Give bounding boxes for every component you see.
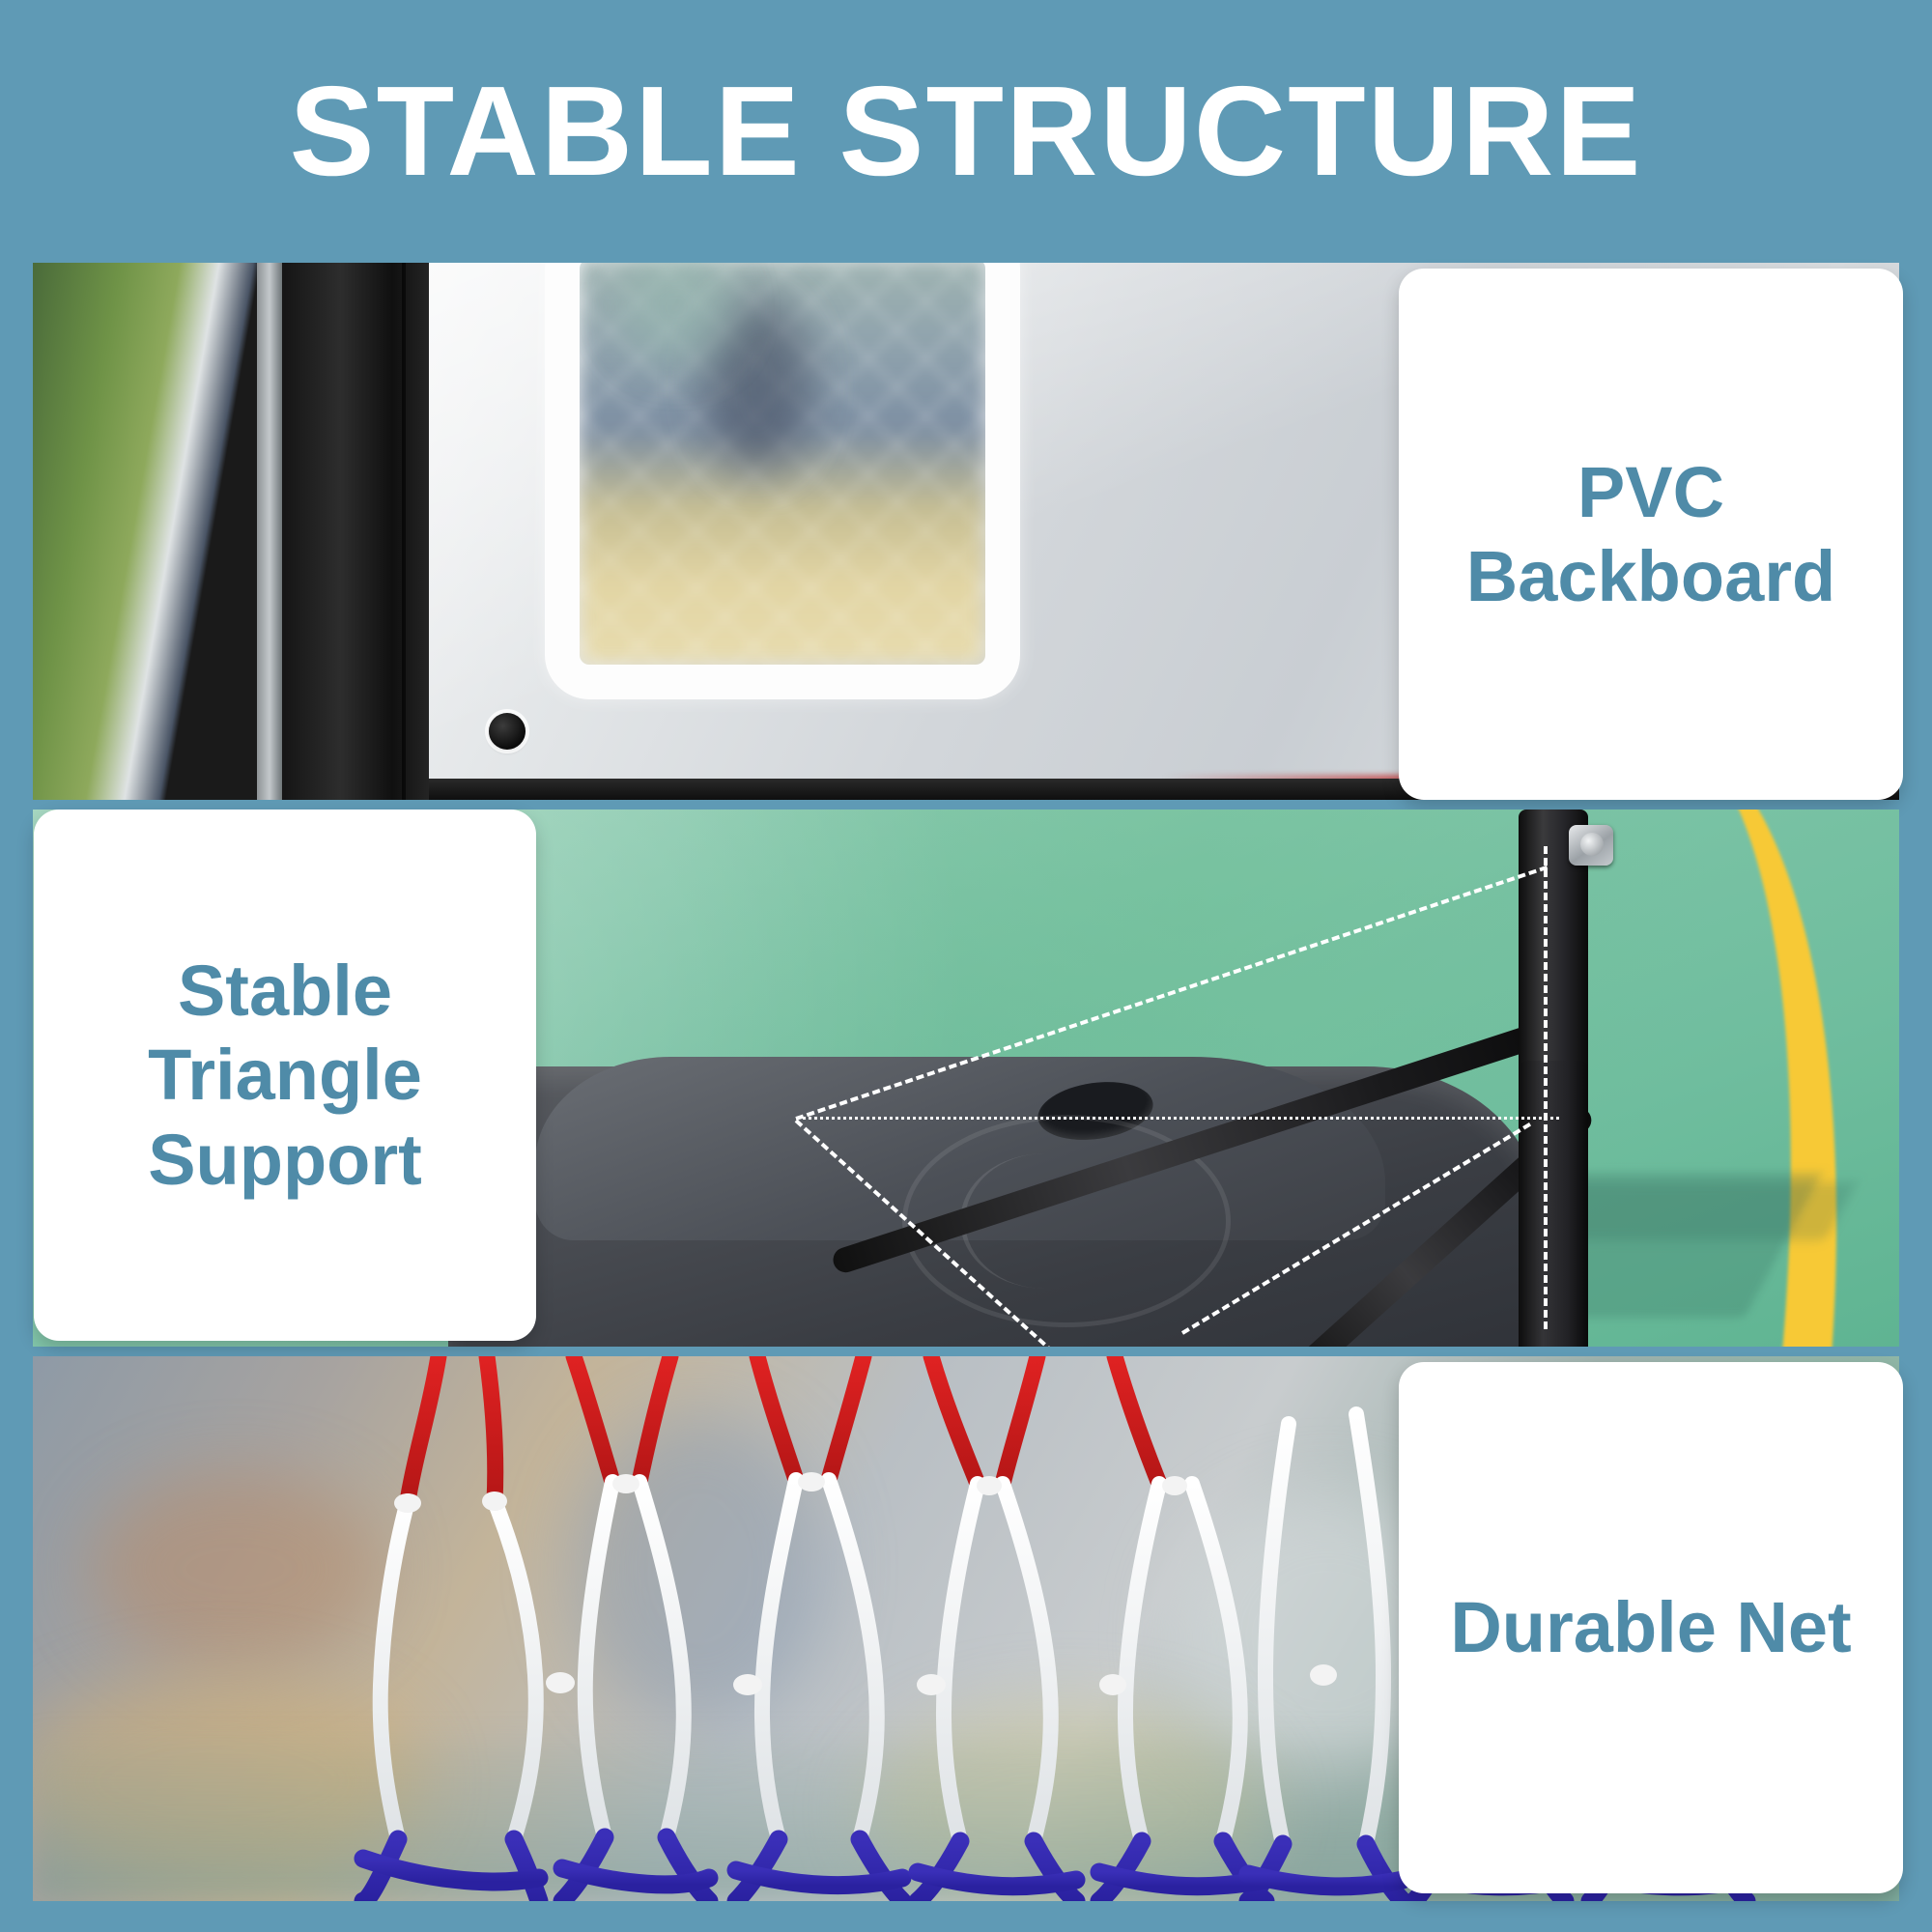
feature-label-pvc-backboard: PVC Backboard bbox=[1466, 450, 1835, 619]
feature-label-stable-triangle-support: Stable Triangle Support bbox=[57, 949, 513, 1202]
vertical-main-pole-lower bbox=[1519, 1061, 1588, 1347]
backboard-bolt-icon bbox=[489, 713, 526, 750]
post-seam-line bbox=[402, 263, 406, 800]
net-red-section bbox=[408, 1356, 1159, 1501]
black-support-post bbox=[282, 263, 429, 800]
shooting-square-outline bbox=[545, 263, 1020, 699]
feature-label-line2: Backboard bbox=[1466, 536, 1835, 616]
feature-label-line1: Durable Net bbox=[1450, 1587, 1851, 1667]
feature-label-card-durable-net: Durable Net bbox=[1399, 1362, 1903, 1893]
feature-label-line2: Support bbox=[148, 1120, 422, 1200]
feature-label-line1: PVC bbox=[1577, 452, 1724, 532]
post-edge-highlight bbox=[257, 263, 282, 800]
page-title: STABLE STRUCTURE bbox=[290, 68, 1643, 195]
feature-label-card-stable-triangle-support: Stable Triangle Support bbox=[34, 810, 536, 1341]
pole-bolt-head-icon bbox=[1580, 833, 1604, 856]
feature-label-line1: Stable Triangle bbox=[148, 951, 422, 1115]
triangle-annotation-base bbox=[796, 1117, 1559, 1120]
feature-label-card-pvc-backboard: PVC Backboard bbox=[1399, 269, 1903, 800]
feature-label-durable-net: Durable Net bbox=[1450, 1585, 1851, 1669]
title-bar: STABLE STRUCTURE bbox=[0, 0, 1932, 263]
infographic-poster: STABLE STRUCTURE PVC Backboard bbox=[0, 0, 1932, 1932]
triangle-annotation-vertical bbox=[1544, 846, 1548, 1329]
